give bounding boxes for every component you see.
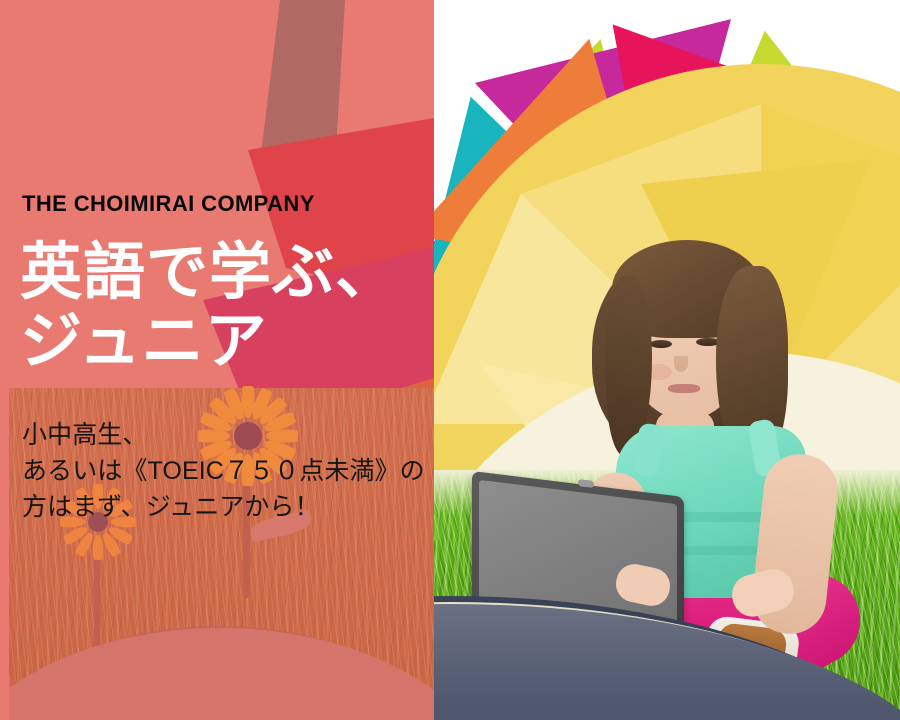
eye-left [650,340,672,348]
company-kicker: THE CHOIMIRAI COMPANY [22,191,315,217]
poster-root: THE CHOIMIRAI COMPANY 英語で学ぶ、 ジュニア 小中高生、 … [0,0,900,720]
body-line-1: 小中高生、 [22,418,434,454]
body-copy: 小中高生、 あるいは《TOEIC７５０点未満》の 方はまず、ジュニアから！ [22,418,434,525]
body-line-2: あるいは《TOEIC７５０点未満》の [22,454,434,490]
headline-line-1: 英語で学ぶ、 [20,238,434,307]
body-line-3: 方はまず、ジュニアから！ [22,490,434,526]
left-edge-strip [0,0,9,720]
girl-with-laptop [520,236,880,656]
mouth [668,384,700,393]
left-coral-panel: THE CHOIMIRAI COMPANY 英語で学ぶ、 ジュニア 小中高生、 … [0,0,434,720]
headline-line-2: ジュニア [20,307,434,376]
nose [674,356,688,372]
headline: 英語で学ぶ、 ジュニア [20,238,434,377]
